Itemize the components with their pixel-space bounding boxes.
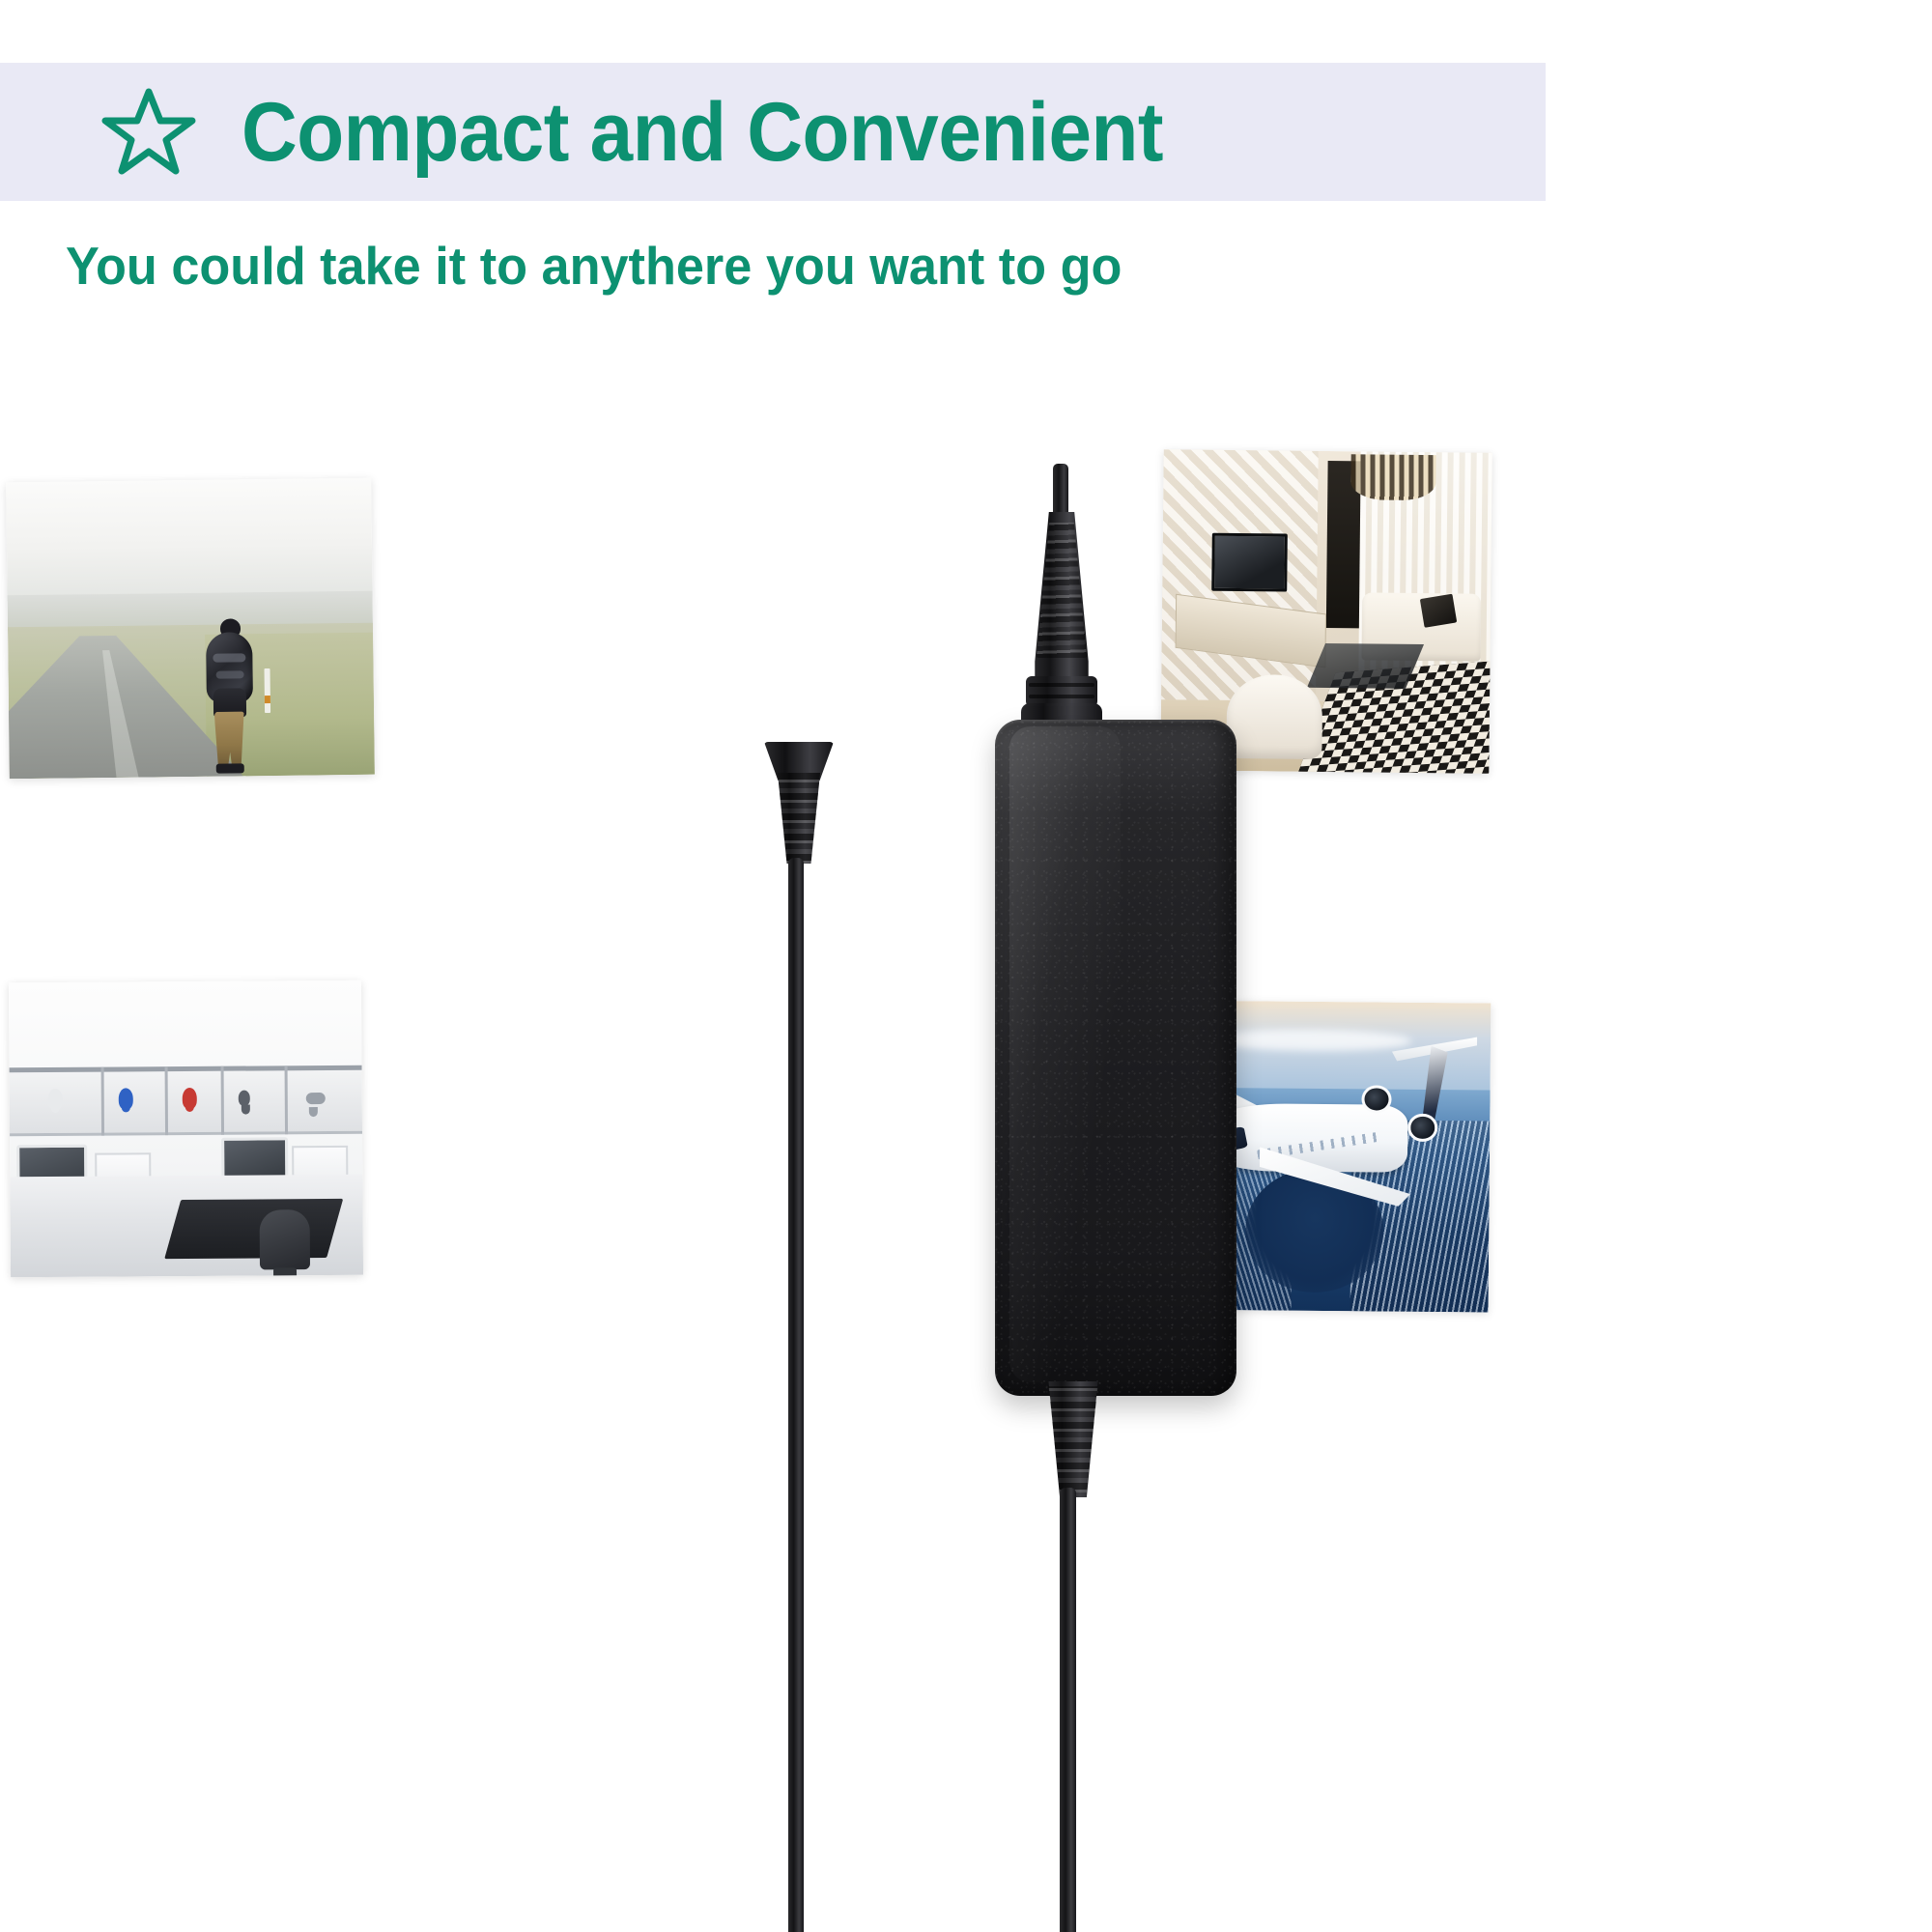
adapter-brick-highlight [1009,726,1121,1382]
office-workspace-photo [9,980,363,1278]
shelf-decor-bird [119,1088,133,1109]
shelf-divider [284,1066,287,1134]
roadside-post [264,668,270,713]
subtitle-text: You could take it to anythere you want t… [66,240,1122,293]
dc-boot-ribs [776,773,822,864]
shelf-decor-bird [48,1089,63,1110]
shelf-divider [100,1067,103,1135]
office-desk-dark-top [164,1199,343,1259]
hiker-legs [214,712,245,768]
strain-relief-boot-bottom [1045,1381,1101,1497]
hiker-photo-inner [6,478,375,780]
shelf-divider [221,1066,224,1134]
office-photo-inner [9,980,363,1278]
dark-throw-pillow [1419,594,1456,628]
product-feature-slide: Compact and Convenient You could take it… [0,0,1932,1932]
round-armchair [1226,674,1321,758]
shelf-decor-object [239,1090,250,1105]
star-outline-icon [100,84,197,181]
dc-output-cable [788,858,804,1932]
boot-bottom-ribs [1045,1386,1101,1492]
hiker-shoes [215,764,243,774]
chandelier [1350,455,1436,500]
shelf-divider [164,1067,167,1135]
hiker-on-road-photo [6,478,375,780]
adapter-brick [995,720,1236,1396]
shelf-decor-bird [183,1088,197,1109]
hiker-figure [197,618,261,774]
plane-engine-near [1407,1114,1437,1142]
ac-output-cable-lower [1060,1488,1076,1932]
page-title: Compact and Convenient [241,91,1163,174]
office-chair [260,1209,310,1269]
glass-coffee-table [1307,643,1424,689]
sky-region [6,478,372,601]
wall-mounted-tv [1211,533,1288,592]
header-band: Compact and Convenient [0,63,1546,201]
dc-plug-strain-relief [776,773,822,864]
shelf-decor-object [305,1093,325,1104]
strain-relief-boot-top [1030,512,1094,686]
